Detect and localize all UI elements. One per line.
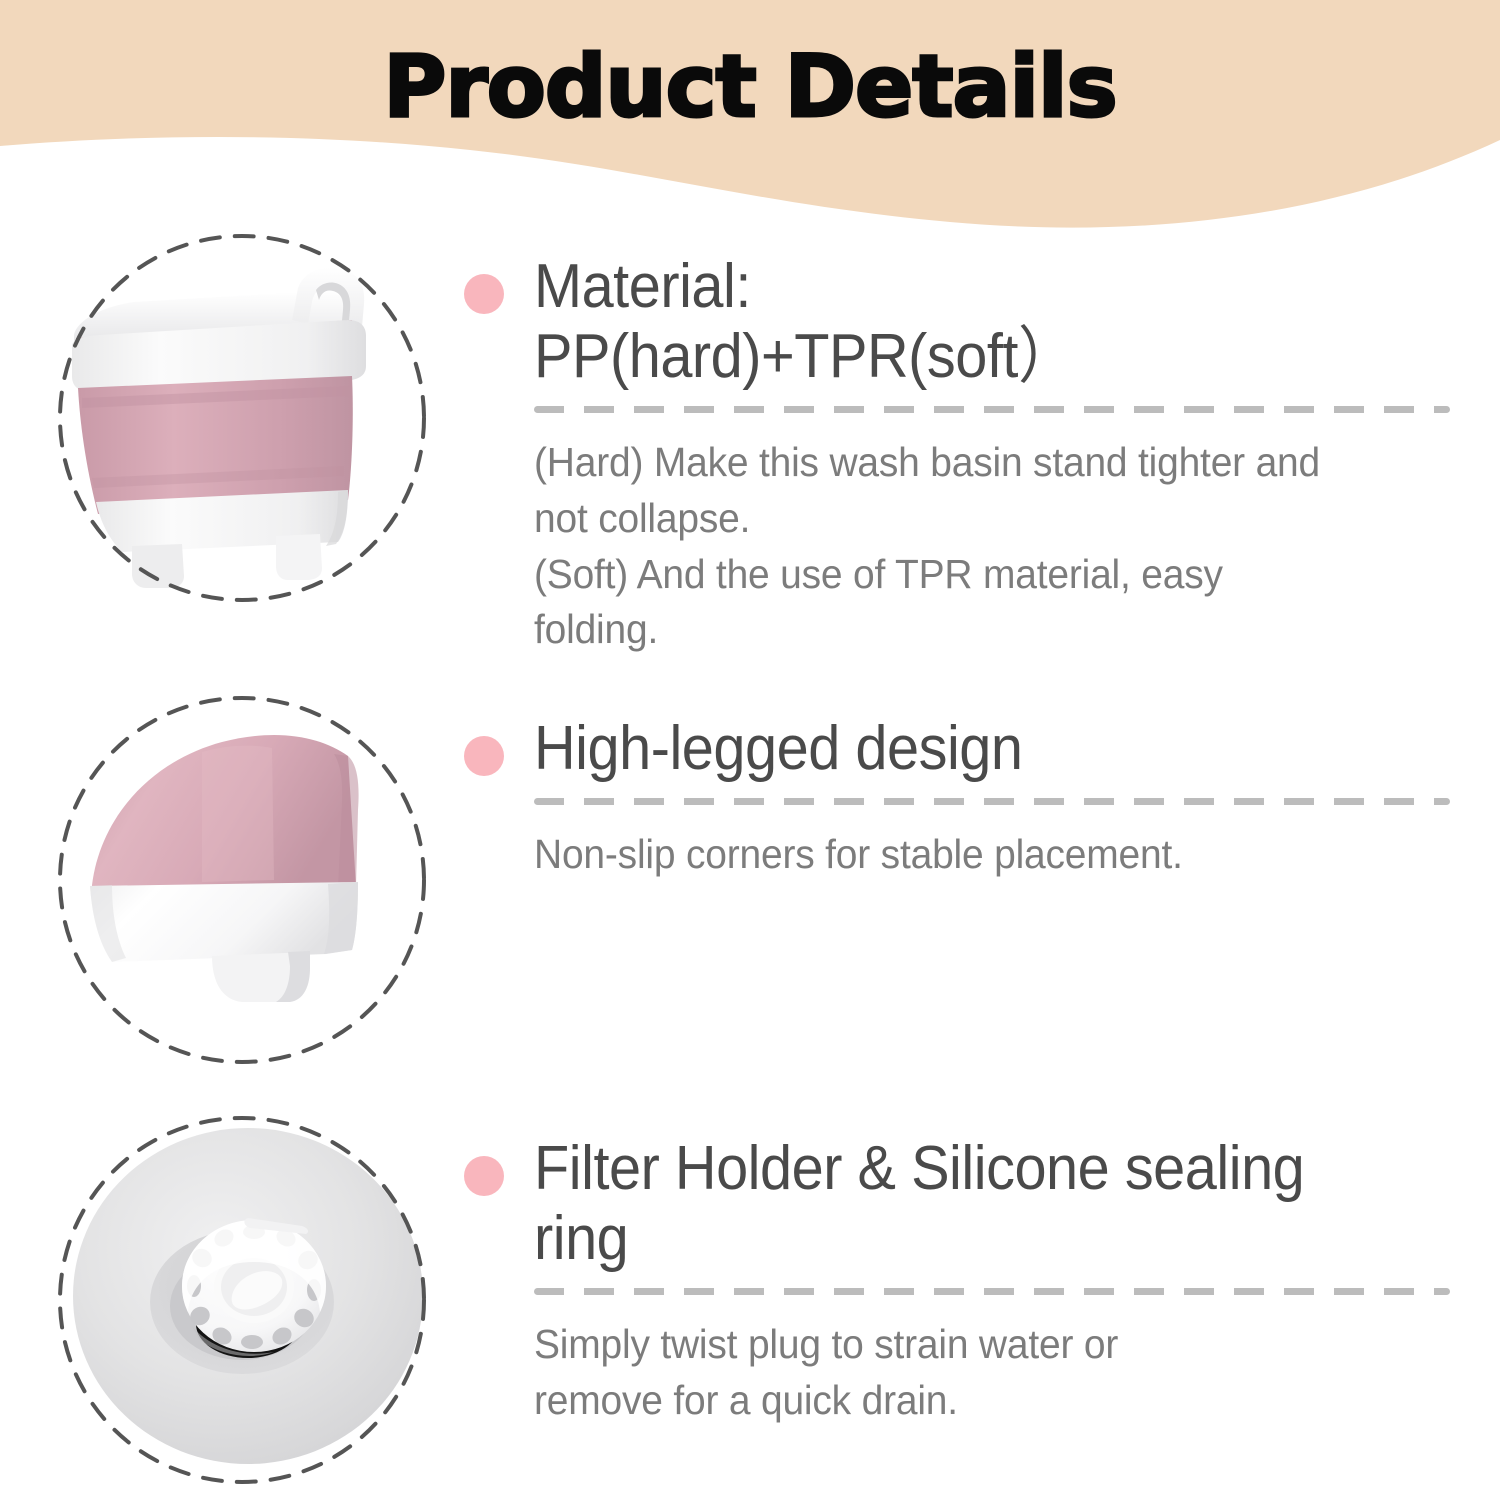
feature-title-filter-holder: Filter Holder & Silicone sealing ring [534,1134,1395,1274]
media-high-legged [52,690,452,1070]
feature-head-material: Material: PP(hard)+TPR(soft） [464,252,1460,392]
page-title: Product Details [0,44,1500,130]
content-material: Material: PP(hard)+TPR(soft） (Hard) Make… [464,228,1460,658]
feature-title-material: Material: PP(hard)+TPR(soft） [534,252,1395,392]
feature-row-filter-holder: Filter Holder & Silicone sealing ring Si… [0,1110,1500,1490]
divider-material [534,406,1450,413]
bullet-dot-icon [464,736,504,776]
content-high-legged: High-legged design Non-slip corners for … [464,690,1460,883]
bullet-dot-icon [464,274,504,314]
dashed-circle-frame [52,1110,432,1490]
media-material [52,228,452,608]
dashed-circle-frame [52,690,432,1070]
feature-row-high-legged: High-legged design Non-slip corners for … [0,690,1500,1070]
feature-body-filter-holder: Simply twist plug to strain water or rem… [534,1317,1414,1429]
feature-title-high-legged: High-legged design [534,714,1395,784]
bullet-dot-icon [464,1156,504,1196]
media-filter-holder [52,1110,452,1490]
feature-body-high-legged: Non-slip corners for stable placement. [534,827,1414,883]
dashed-circle-frame [52,228,432,608]
divider-filter-holder [534,1288,1450,1295]
feature-head-filter-holder: Filter Holder & Silicone sealing ring [464,1134,1460,1274]
feature-head-high-legged: High-legged design [464,714,1460,784]
feature-row-material: Material: PP(hard)+TPR(soft） (Hard) Make… [0,228,1500,658]
content-filter-holder: Filter Holder & Silicone sealing ring Si… [464,1110,1460,1429]
header-banner: Product Details [0,0,1500,240]
feature-body-material: (Hard) Make this wash basin stand tighte… [534,435,1414,658]
divider-high-legged [534,798,1450,805]
